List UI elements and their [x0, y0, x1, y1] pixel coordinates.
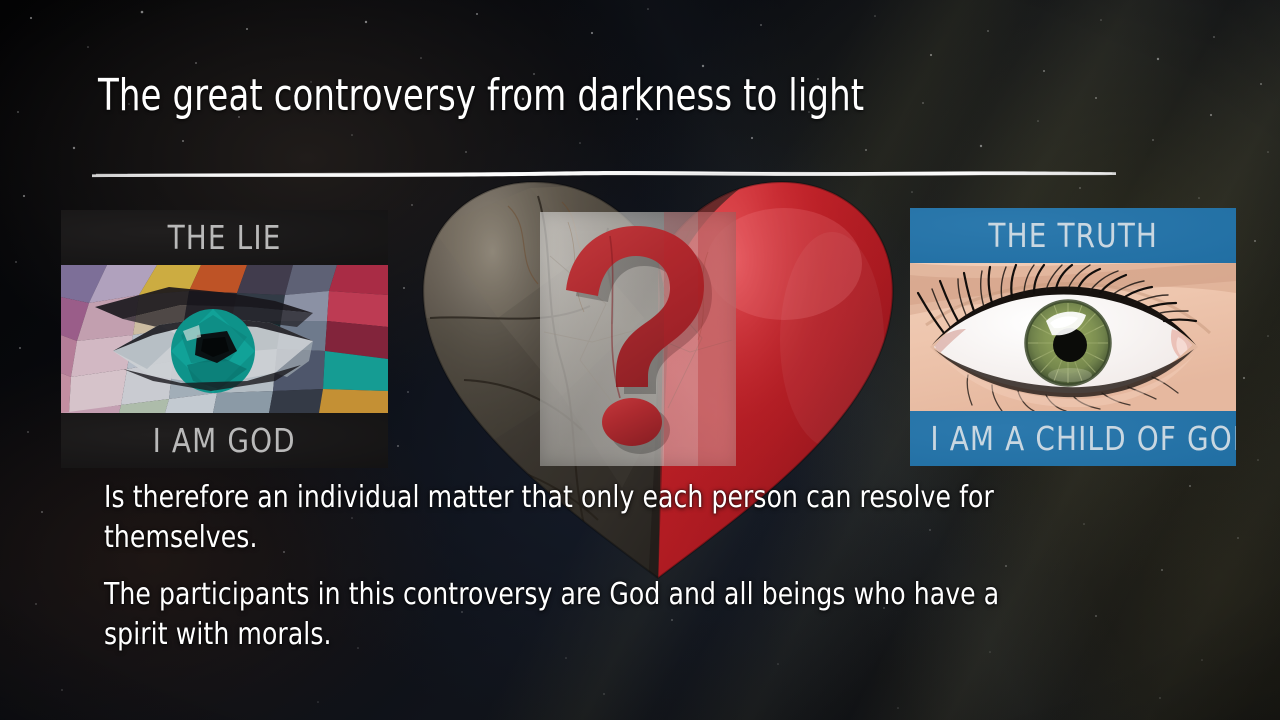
slide-body-text: Is therefore an individual matter that o…	[104, 478, 1094, 654]
panel-left-footer: I AM GOD	[61, 413, 388, 468]
panel-right-footer-label: I AM A CHILD OF GOD	[930, 419, 1236, 458]
panel-left-header-label: THE LIE	[168, 218, 282, 257]
question-mark-panel	[540, 212, 736, 466]
panel-right-header-label: THE TRUTH	[988, 216, 1158, 255]
panel-left-footer-label: I AM GOD	[153, 421, 296, 460]
presentation-slide: The great controversy from darkness to l…	[0, 0, 1280, 720]
panel-right-header: THE TRUTH	[910, 208, 1236, 263]
question-mark-icon	[540, 212, 736, 466]
body-paragraph-1: Is therefore an individual matter that o…	[104, 478, 1025, 557]
panel-right-footer: I AM A CHILD OF GOD	[910, 411, 1236, 466]
panel-the-lie[interactable]: THE LIE	[61, 210, 388, 468]
human-eye-photo	[910, 263, 1236, 411]
low-poly-eye-artwork	[61, 265, 388, 413]
human-eye-artwork	[910, 263, 1236, 411]
panel-the-truth[interactable]: THE TRUTH	[910, 208, 1236, 466]
slide-title: The great controversy from darkness to l…	[98, 70, 1027, 121]
low-poly-eye-image	[61, 265, 388, 413]
panel-left-header: THE LIE	[61, 210, 388, 265]
body-paragraph-2: The participants in this controversy are…	[104, 575, 1025, 654]
